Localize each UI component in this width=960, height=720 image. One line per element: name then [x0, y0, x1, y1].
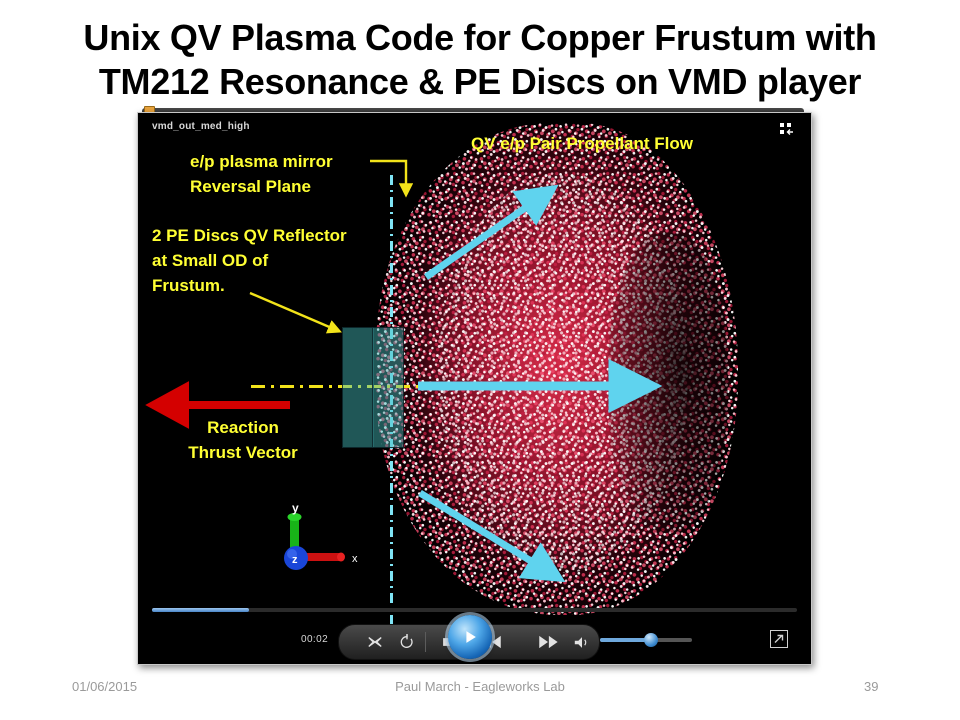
volume-slider-fill: [600, 638, 650, 642]
annotation-reaction-thrust: ReactionThrust Vector: [168, 415, 318, 465]
discs-leader-arrow: [250, 293, 334, 329]
annotation-propellant-flow: QV e/p Pair Propellant Flow: [471, 131, 693, 156]
slide-footer: 01/06/2015 Paul March - Eagleworks Lab 3…: [0, 679, 960, 703]
title-line-2: TM212 Resonance & PE Discs on VMD player: [0, 60, 960, 104]
repeat-icon[interactable]: [397, 633, 417, 651]
flow-arrow-upper: [426, 199, 538, 277]
flow-arrow-lower: [420, 493, 544, 569]
annotation-discs-line-3: Frustum.: [152, 276, 225, 295]
vmd-axis-widget: y x z: [266, 501, 361, 581]
elapsed-time-label: 00:02: [301, 634, 328, 645]
volume-slider-knob[interactable]: [644, 633, 658, 647]
play-icon[interactable]: [448, 615, 492, 659]
volume-icon[interactable]: [571, 633, 593, 651]
video-stage[interactable]: vmd_out_med_high: [138, 113, 811, 664]
axis-label-y: y: [292, 501, 299, 515]
volume-slider[interactable]: [600, 638, 692, 642]
axis-label-z: z: [292, 554, 298, 566]
player-controls[interactable]: 00:02: [138, 618, 811, 664]
page-title: Unix QV Plasma Code for Copper Frustum w…: [0, 16, 960, 104]
fast-forward-icon[interactable]: [535, 633, 561, 651]
playback-progress-track[interactable]: [152, 608, 797, 612]
annotation-thrust-line-2: Thrust Vector: [188, 443, 298, 462]
annotation-mirror-line-2: Reversal Plane: [190, 177, 311, 196]
axis-label-x: x: [352, 553, 358, 565]
annotation-mirror-line-1: e/p plasma mirror: [190, 152, 333, 171]
annotation-discs-line-1: 2 PE Discs QV Reflector: [152, 226, 347, 245]
annotation-discs-line-2: at Small OD of: [152, 251, 268, 270]
controls-divider: [425, 632, 426, 652]
shuffle-icon[interactable]: [365, 633, 385, 651]
fullscreen-icon[interactable]: [770, 630, 788, 648]
mirror-leader-arrow: [370, 161, 406, 189]
playback-progress-fill: [152, 608, 249, 612]
annotation-pe-discs: 2 PE Discs QV Reflector at Small OD of F…: [152, 223, 347, 298]
annotation-thrust-line-1: Reaction: [207, 418, 279, 437]
annotation-reversal-plane: e/p plasma mirror Reversal Plane: [190, 149, 333, 199]
footer-page-number: 39: [864, 679, 878, 694]
title-line-1: Unix QV Plasma Code for Copper Frustum w…: [0, 16, 960, 60]
video-player-window[interactable]: vmd_out_med_high: [137, 112, 812, 665]
footer-author: Paul March - Eagleworks Lab: [0, 679, 960, 694]
